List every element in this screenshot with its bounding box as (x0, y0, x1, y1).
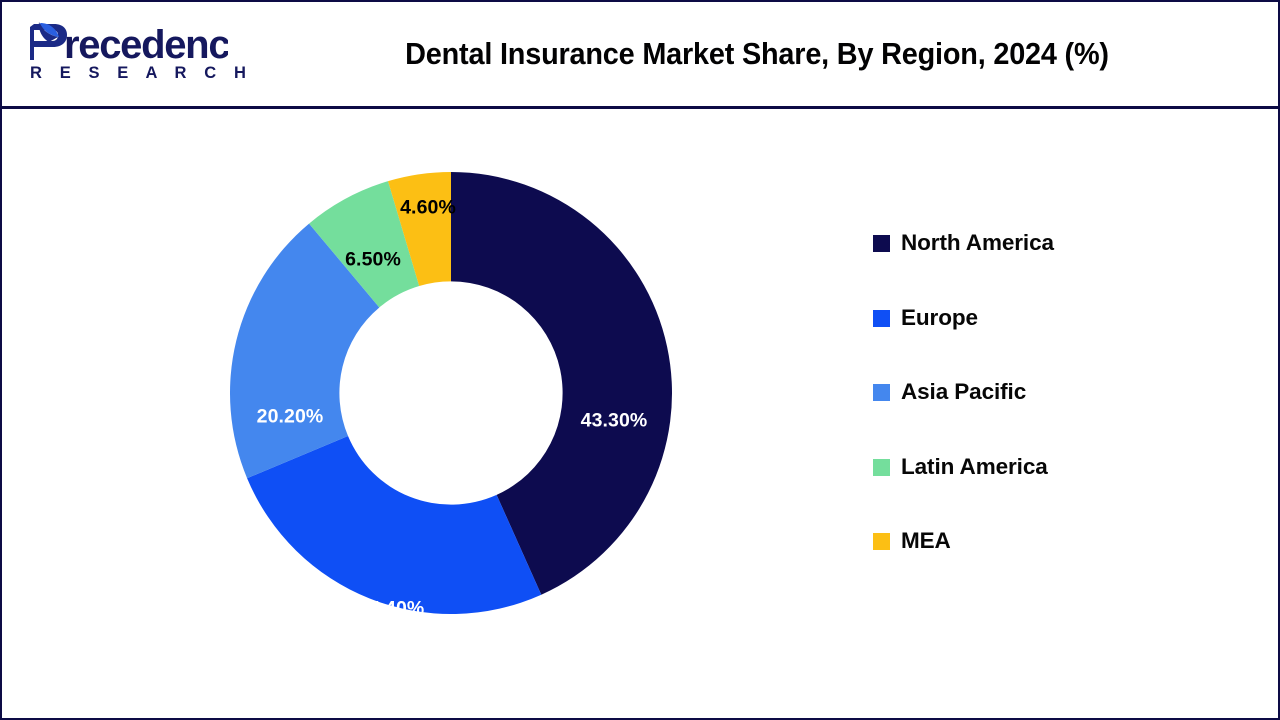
slice-value-label: 4.60% (400, 197, 456, 220)
legend-item-label: North America (901, 229, 1054, 256)
legend-color-swatch (873, 384, 890, 401)
chart-legend: North AmericaEuropeAsia PacificLatin Ame… (873, 229, 1213, 602)
legend-color-swatch (873, 310, 890, 327)
logo-p-mark (30, 22, 67, 60)
donut-slice-group (230, 172, 672, 614)
logo-wordmark-svg: recedence (18, 20, 228, 66)
legend-item-label: MEA (901, 527, 951, 554)
donut-chart-svg (230, 172, 672, 614)
legend-item-label: Latin America (901, 453, 1048, 480)
donut-slice[interactable] (247, 436, 541, 614)
legend-item[interactable]: Europe (873, 304, 1213, 379)
slice-value-label: 43.30% (581, 410, 648, 433)
legend-color-swatch (873, 235, 890, 252)
slice-value-label: 6.50% (345, 249, 401, 272)
legend-item-label: Asia Pacific (901, 378, 1026, 405)
precedence-research-logo: recedence R E S E A R C H (18, 20, 228, 92)
legend-item[interactable]: North America (873, 229, 1213, 304)
slice-value-label: 20.20% (257, 406, 324, 429)
slice-value-label: 25.40% (358, 598, 425, 621)
legend-color-swatch (873, 533, 890, 550)
page-title: Dental Insurance Market Share, By Region… (287, 2, 1226, 106)
svg-text:recedence: recedence (64, 23, 228, 66)
chart-page: recedence R E S E A R C H Dental Insuran… (0, 0, 1280, 720)
logo-subtitle: R E S E A R C H (30, 64, 226, 83)
chart-body: 43.30%25.40%20.20%6.50%4.60% North Ameri… (2, 109, 1278, 720)
legend-item[interactable]: MEA (873, 527, 1213, 602)
legend-item[interactable]: Latin America (873, 453, 1213, 528)
legend-item[interactable]: Asia Pacific (873, 378, 1213, 453)
legend-color-swatch (873, 459, 890, 476)
page-header: recedence R E S E A R C H Dental Insuran… (2, 2, 1278, 109)
legend-item-label: Europe (901, 304, 978, 331)
donut-chart: 43.30%25.40%20.20%6.50%4.60% (230, 172, 672, 614)
